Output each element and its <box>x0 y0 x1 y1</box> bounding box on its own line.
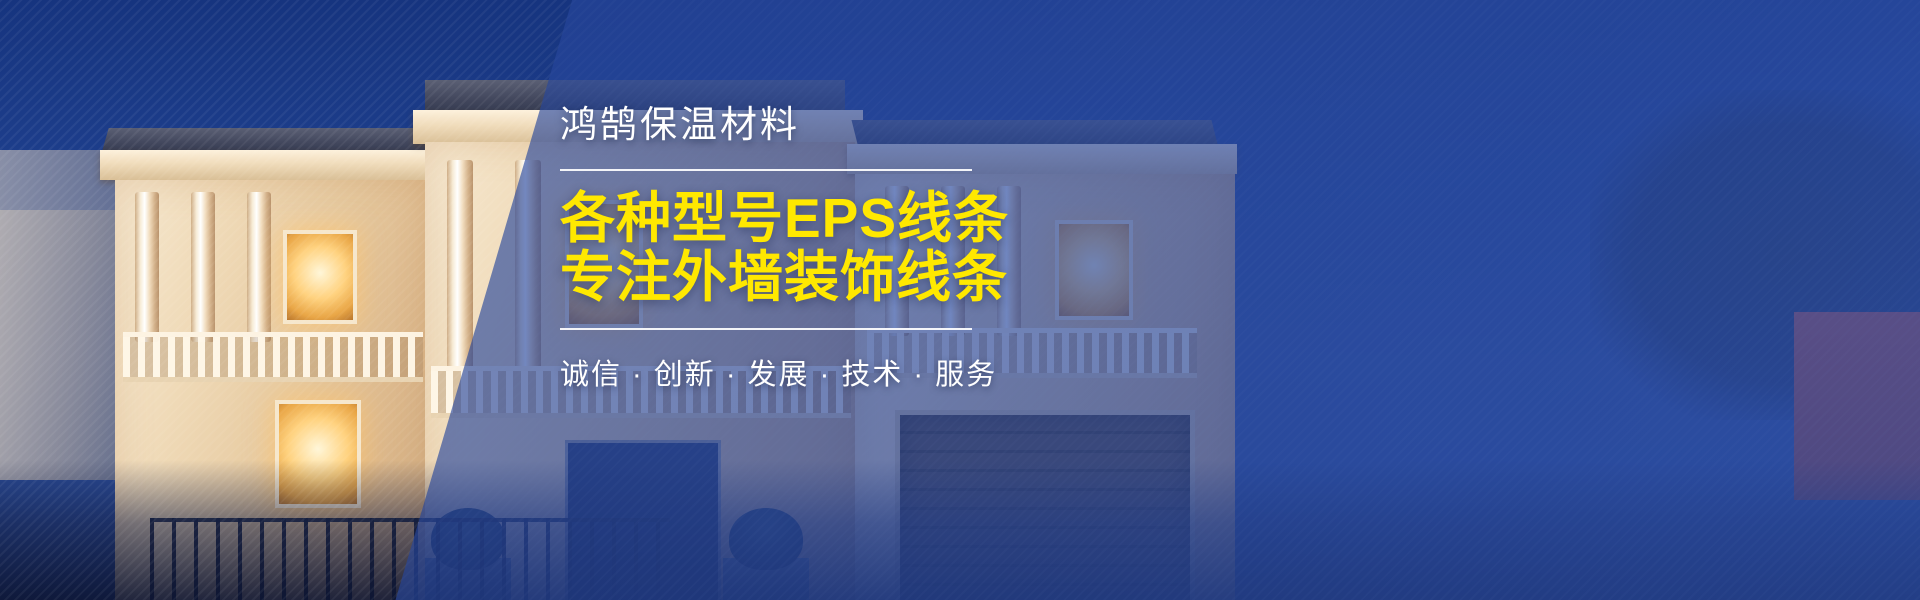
ground-shadow <box>0 460 1920 600</box>
headline-line-1: 各种型号EPS线条 <box>560 189 1030 249</box>
tagline: 诚信 · 创新 · 发展 · 技术 · 服务 <box>560 351 1030 393</box>
divider-bottom <box>560 328 972 330</box>
banner-content: 鸿鹄保温材料 各种型号EPS线条 专注外墙装饰线条 诚信 · 创新 · 发展 ·… <box>560 104 1030 393</box>
cornice-left <box>100 150 445 180</box>
balustrade-left <box>123 332 423 382</box>
headline: 各种型号EPS线条 专注外墙装饰线条 <box>560 189 1030 309</box>
window-left-upper <box>283 230 357 324</box>
column-center-a <box>447 160 473 370</box>
hero-banner: 鸿鹄保温材料 各种型号EPS线条 专注外墙装饰线条 诚信 · 创新 · 发展 ·… <box>0 0 1920 600</box>
brand-name: 鸿鹄保温材料 <box>560 104 1030 147</box>
headline-line-2: 专注外墙装饰线条 <box>560 248 1030 308</box>
window-right-upper <box>1055 220 1133 320</box>
divider-top <box>560 169 972 171</box>
column-left-c <box>247 192 271 342</box>
column-center-b <box>515 160 541 370</box>
column-left-b <box>191 192 215 342</box>
column-left-a <box>135 192 159 342</box>
